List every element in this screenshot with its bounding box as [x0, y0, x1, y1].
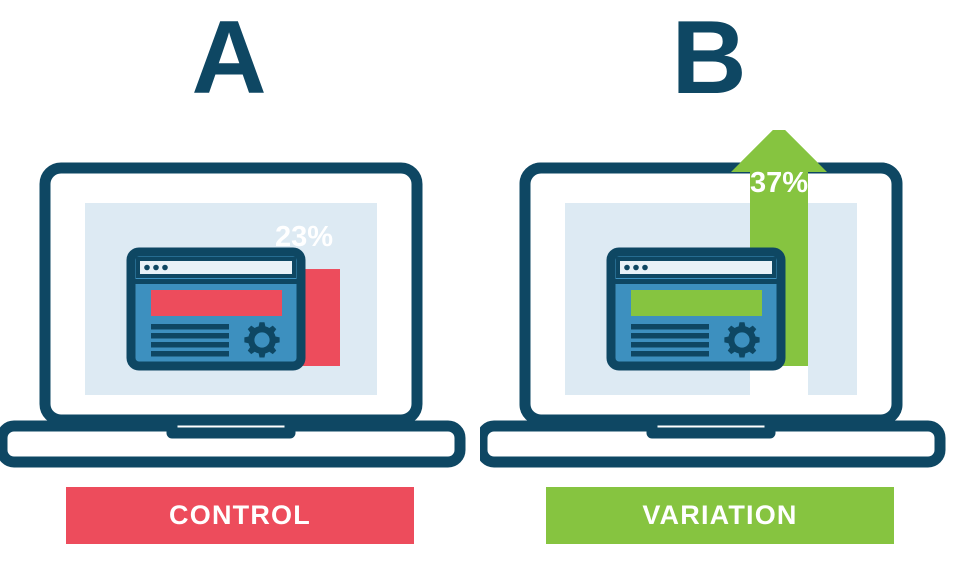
browser-text-line	[631, 351, 709, 357]
browser-dot	[162, 265, 168, 271]
metric-value-b: 37%	[750, 167, 808, 199]
laptop-base-b	[482, 426, 940, 462]
browser-dot	[633, 265, 639, 271]
browser-text-line	[631, 342, 709, 348]
variant-letter-b: B	[469, 4, 949, 113]
browser-banner-a	[151, 290, 282, 316]
badge-control: CONTROL	[0, 487, 480, 544]
browser-text-line	[151, 324, 229, 330]
browser-text-line	[151, 333, 229, 339]
browser-dot	[624, 265, 630, 271]
variant-letter-a: A	[0, 4, 469, 113]
gear-icon	[244, 322, 279, 357]
laptop-b: 37%	[480, 130, 960, 470]
browser-dot	[144, 265, 150, 271]
variant-panel-a: A 23%	[0, 0, 480, 566]
browser-text-line	[631, 333, 709, 339]
variant-panel-b: B	[480, 0, 960, 566]
browser-dot	[642, 265, 648, 271]
browser-dot	[153, 265, 159, 271]
browser-mockup-a	[131, 252, 301, 366]
browser-text-line	[151, 351, 229, 357]
badge-variation: VARIATION	[480, 487, 960, 544]
laptop-base-a	[2, 426, 460, 462]
browser-banner-b	[631, 290, 762, 316]
ab-test-illustration: A 23%	[0, 0, 960, 566]
browser-text-line	[631, 324, 709, 330]
browser-text-line	[151, 342, 229, 348]
laptop-a: 23%	[0, 130, 480, 470]
badge-variation-label: VARIATION	[546, 487, 894, 544]
browser-mockup-b	[611, 252, 781, 366]
gear-icon	[724, 322, 759, 357]
badge-control-label: CONTROL	[66, 487, 414, 544]
